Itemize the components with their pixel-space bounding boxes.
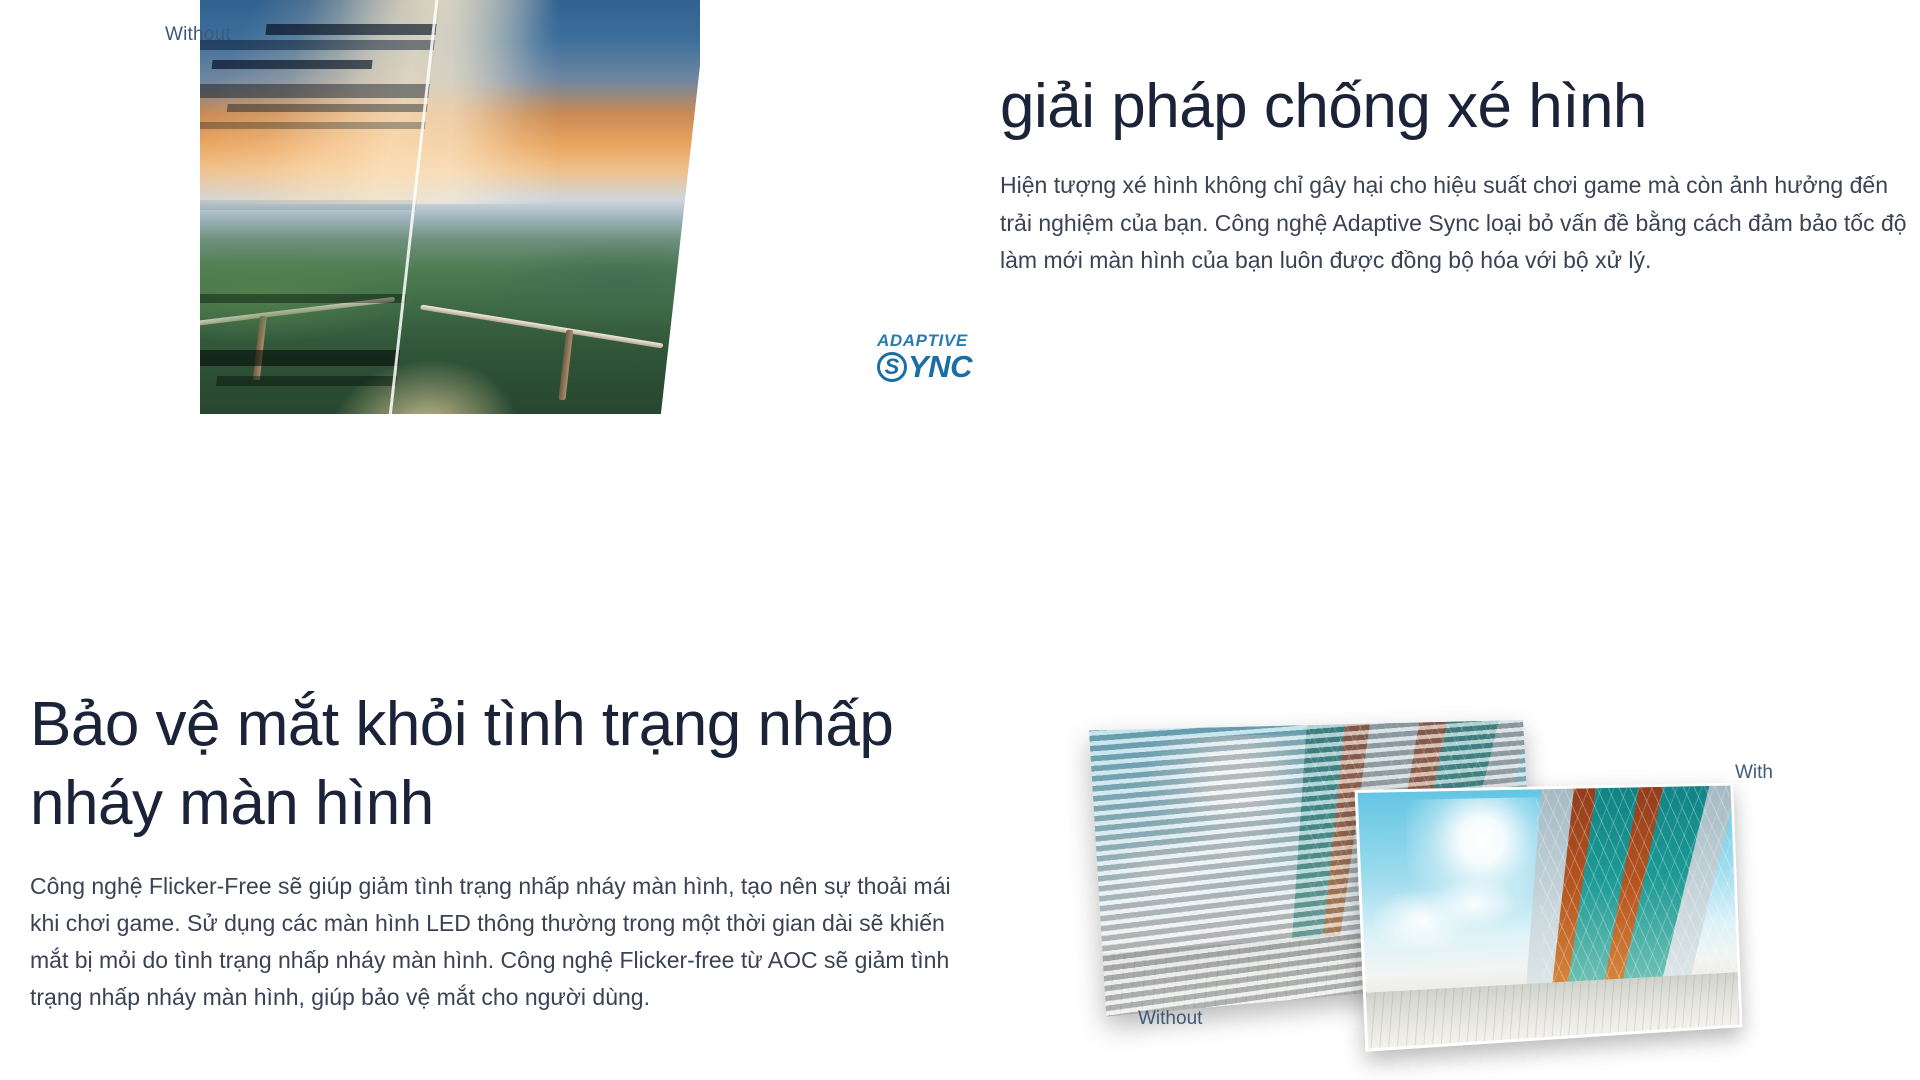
screen-tear-band: [265, 24, 448, 35]
screen-tear-band: [200, 122, 446, 129]
adaptive-sync-heading: giải pháp chống xé hình: [1000, 72, 1920, 141]
building-photo-clean: [1358, 786, 1740, 1049]
label-without-flicker-free: Without: [1138, 1008, 1202, 1030]
fence-post: [253, 316, 267, 380]
section-adaptive-sync: ADAPTIVE S YNC Without giải pháp chống x…: [0, 0, 1920, 540]
flicker-free-heading: Bảo vệ mắt khỏi tình trạng nhấp nháy màn…: [30, 685, 950, 844]
adaptive-sync-s-badge-icon: S: [877, 352, 907, 382]
adaptive-sync-copy-block: giải pháp chống xé hình Hiện tượng xé hì…: [1000, 72, 1920, 279]
tearing-comparison-frame: [200, 0, 700, 414]
section-flicker-free: Bảo vệ mắt khỏi tình trạng nhấp nháy màn…: [0, 540, 1920, 1080]
landscape-scene-smooth: [393, 0, 700, 414]
adaptive-sync-logo-rest-text: YNC: [908, 351, 972, 382]
flicker-free-copy-block: Bảo vệ mắt khỏi tình trạng nhấp nháy màn…: [30, 685, 980, 1017]
adaptive-sync-paragraph: Hiện tượng xé hình không chỉ gây hại cho…: [1000, 167, 1915, 279]
screen-tear-band: [200, 40, 448, 50]
screen-tear-band: [227, 104, 448, 112]
panel-with-flicker-free: [1355, 783, 1743, 1052]
screen-tear-band: [200, 84, 448, 98]
adaptive-sync-logo-top-text: ADAPTIVE: [877, 332, 997, 349]
plaza-ground: [1366, 972, 1740, 1049]
fence-post: [558, 330, 573, 400]
screen-tear-band: [200, 294, 406, 303]
adaptive-sync-logo-wordmark: S YNC: [877, 351, 997, 382]
label-with-flicker-free: With: [1735, 762, 1773, 784]
screen-tear-band: [212, 60, 373, 69]
screen-tear-band: [200, 200, 448, 210]
page-root: ADAPTIVE S YNC Without giải pháp chống x…: [0, 0, 1920, 1080]
label-without-adaptive-sync: Without: [165, 24, 231, 46]
with-adaptive-sync-half: [393, 0, 700, 414]
cloud: [1369, 864, 1550, 977]
adaptive-sync-comparison-image: ADAPTIVE S YNC: [150, 0, 840, 434]
flicker-free-comparison-image: [1130, 710, 1830, 1080]
flicker-free-paragraph: Công nghệ Flicker-Free sẽ giúp giảm tình…: [30, 868, 960, 1017]
fence-rail: [420, 304, 664, 348]
adaptive-sync-logo: ADAPTIVE S YNC: [877, 332, 997, 382]
